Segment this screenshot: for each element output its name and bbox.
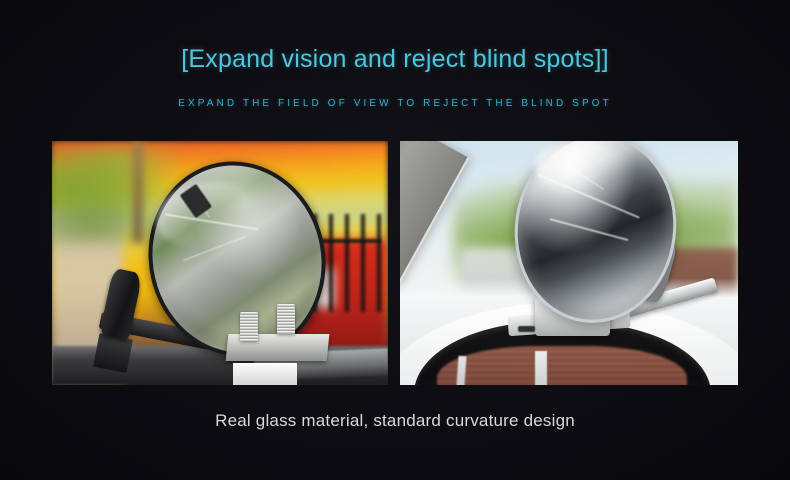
page-title: [Expand vision and reject blind spots]] [0,43,790,75]
left-photo [52,141,388,385]
mounting-clamp-base [233,363,297,385]
page-subtitle: EXPAND THE FIELD OF VIEW TO REJECT THE B… [0,97,790,111]
clamp-screw-detail [518,326,535,331]
bottom-caption: Real glass material, standard curvature … [0,409,790,433]
right-photo [400,141,738,385]
window-divider-bar [535,351,546,385]
left-photo-scene [52,141,388,385]
threaded-bolt-left [240,312,257,341]
threaded-bolt-right [277,304,294,333]
product-banner: [Expand vision and reject blind spots]] … [0,0,790,480]
mirror-mount-bracket [93,333,132,373]
tree-trunk [133,141,144,243]
right-photo-scene [400,141,738,385]
